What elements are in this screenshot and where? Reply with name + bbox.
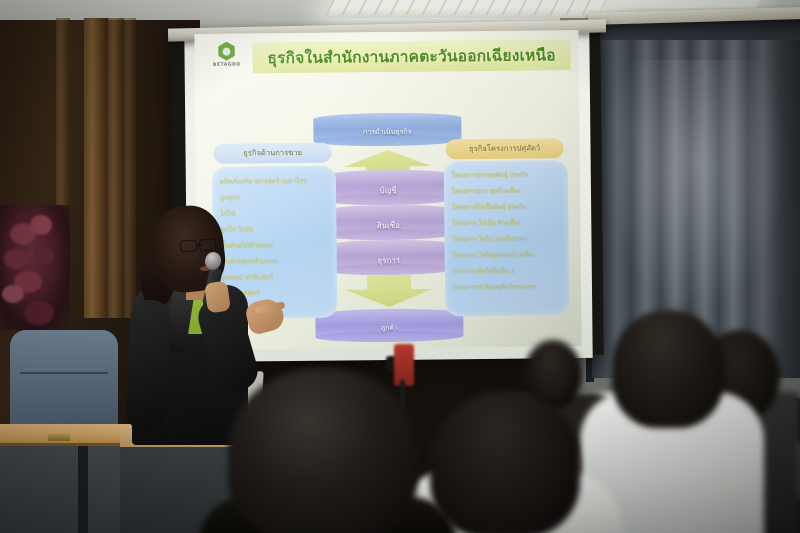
right-panel-line: โครงการไก่เนื้อพันธุ์ ประกัน	[452, 199, 560, 216]
stack-disc-2: สินเชื่อ	[322, 204, 454, 239]
stack-disc-3-label: ธุรการ	[323, 253, 455, 267]
ceiling-fluorescent-light-secondary	[606, 0, 765, 8]
right-panel-line: โครงการฟาร์มปศุสัตว์ครบวงจร	[453, 279, 561, 296]
arrow-down-icon	[345, 275, 433, 308]
ceiling-fluorescent-light	[324, 0, 611, 18]
wood-wall-panel	[84, 18, 108, 318]
flower-arrangement	[0, 205, 70, 330]
right-panel-line: โครงการ ไก่ไข่ลูกผสมจ้างเลี้ยง	[453, 247, 561, 264]
right-panel-line: โครงการ ไก่เนื้อ จ้างเลี้ยง	[452, 215, 560, 232]
stack-disc-3: ธุรการ	[323, 239, 455, 274]
hexagon-logo-icon	[217, 42, 236, 61]
eyeglasses-lens-left	[180, 239, 198, 252]
diagram-node-bottom-label: ลูกค้า	[315, 322, 463, 335]
eyeglasses-lens-right	[199, 238, 217, 251]
diagram-node-top: การดำเนินธุรกิจ	[313, 112, 461, 146]
conference-table-leg	[78, 446, 88, 533]
eyeglasses-bridge	[196, 244, 201, 246]
wood-wall-panel-4	[56, 18, 70, 208]
right-panel-line: โครงการ ไก่ไข่ ประกันราคา	[452, 231, 560, 248]
left-panel-line: ชิ้นส่วนสุกรชำแหละ	[221, 253, 329, 270]
wood-wall-panel-2	[108, 18, 124, 318]
slide-title: ธุรกิจในสำนักงานภาคตะวันออกเฉียงเหนือ	[267, 42, 556, 70]
right-panel-line: โครงการสุกร ขุนจ้างเลี้ยง	[452, 183, 560, 200]
presentation-photo-scene: BETAGRO ธุรกิจในสำนักงานภาคตะวันออกเฉียง…	[0, 0, 800, 533]
right-panel-line: โครงการสัตว์ชนิดอื่น ๆ	[453, 263, 561, 280]
left-panel-line: ลูกไก่ ไก่รุ่น	[220, 221, 328, 238]
logo-wordmark: BETAGRO	[205, 62, 249, 67]
slide-title-band: ธุรกิจในสำนักงานภาคตะวันออกเฉียงเหนือ	[252, 39, 570, 73]
betagro-logo: BETAGRO	[204, 41, 248, 73]
diagram-center-stack: บัญชี สินเชื่อ ธุรการ	[322, 169, 455, 278]
right-panel: โครงการสุกรขุนพันธุ์ ประกัน โครงการสุกร …	[444, 160, 570, 316]
stack-disc-1-label: บัญชี	[322, 183, 454, 197]
right-panel-heading: ธุรกิจโครงการปศุสัตว์	[445, 138, 563, 159]
stack-disc-2-label: สินเชื่อ	[322, 218, 454, 232]
left-panel-line: ลูกสุกร	[220, 189, 328, 206]
presenter-hand-holding-microphone	[204, 281, 231, 314]
wood-wall-panel-3	[124, 18, 136, 318]
left-panel-line: อุปกรณ์ ฟาร์มสัตว์	[221, 269, 329, 286]
presenter-arm-left	[125, 299, 172, 431]
audience-member-2-head	[430, 392, 580, 533]
table-nameplate	[48, 434, 70, 441]
audience-member-3-head	[612, 310, 724, 428]
right-panel-line: โครงการสุกรขุนพันธุ์ ประกัน	[452, 167, 560, 184]
chair-seam	[20, 372, 108, 374]
diagram-node-top-label: การดำเนินธุรกิจ	[313, 126, 461, 139]
left-panel-line: ไก่ไข่	[220, 205, 328, 222]
left-panel-line: ผลิตภัณฑ์อาหารสัตว์ เบทาโกร	[220, 173, 328, 190]
diagram-node-bottom: ลูกค้า	[315, 308, 463, 342]
left-panel-heading: ธุรกิจด้านการขาย	[214, 143, 332, 164]
stack-disc-1: บัญชี	[322, 169, 454, 204]
left-panel-line: ชิ้นส่วนไก่ชำแหละ	[220, 237, 328, 254]
audience-member-1-head	[228, 368, 418, 533]
window-daylight-glow	[600, 60, 790, 310]
